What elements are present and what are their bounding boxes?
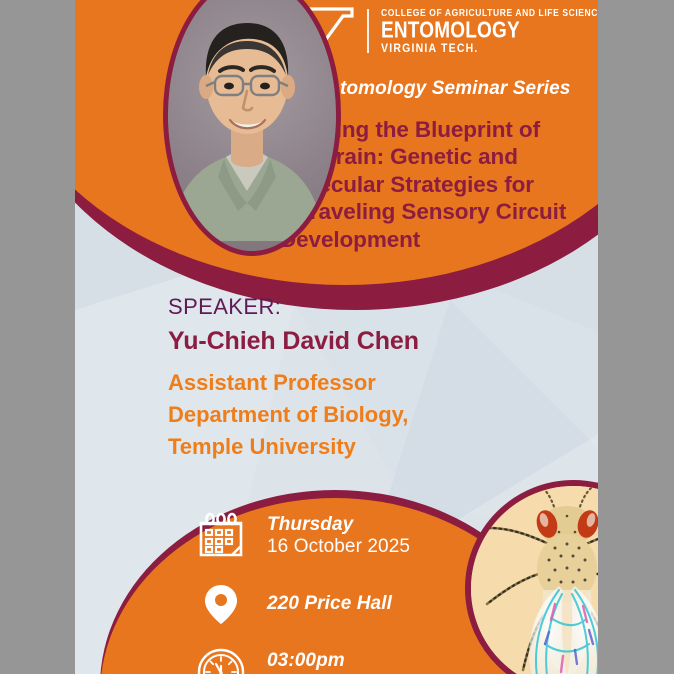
location-pin-icon xyxy=(193,576,249,632)
university-name: VIRGINIA TECH. xyxy=(381,43,598,56)
department-name: ENTOMOLOGY xyxy=(381,19,598,43)
logo-divider xyxy=(367,9,369,53)
speaker-headshot xyxy=(163,0,341,256)
detail-date-full: 16 October 2025 xyxy=(267,536,410,558)
speaker-headshot-photo-icon xyxy=(168,0,326,241)
detail-row-time: 03:00pm Reception to follow xyxy=(193,644,493,674)
drosophila-fly-illustration xyxy=(465,480,598,674)
seminar-poster: COLLEGE OF AGRICULTURE AND LIFE SCIENCES… xyxy=(75,0,598,674)
speaker-label: SPEAKER: xyxy=(168,294,281,320)
calendar-icon xyxy=(193,508,249,564)
poster-canvas: COLLEGE OF AGRICULTURE AND LIFE SCIENCES… xyxy=(0,0,674,674)
detail-row-date: Thursday 16 October 2025 xyxy=(193,508,493,564)
detail-location: 220 Price Hall xyxy=(267,593,392,615)
detail-time: 03:00pm xyxy=(267,650,429,672)
drosophila-fly-illustration-icon xyxy=(471,486,598,674)
detail-date-day: Thursday xyxy=(267,514,410,536)
speaker-name: Yu-Chieh David Chen xyxy=(168,327,419,356)
event-details: Thursday 16 October 2025 220 Price Hall xyxy=(193,508,493,674)
detail-row-location: 220 Price Hall xyxy=(193,576,493,632)
clock-icon xyxy=(193,644,249,674)
college-line: COLLEGE OF AGRICULTURE AND LIFE SCIENCES xyxy=(381,8,598,19)
speaker-affiliation: Assistant Professor Department of Biolog… xyxy=(168,367,568,463)
